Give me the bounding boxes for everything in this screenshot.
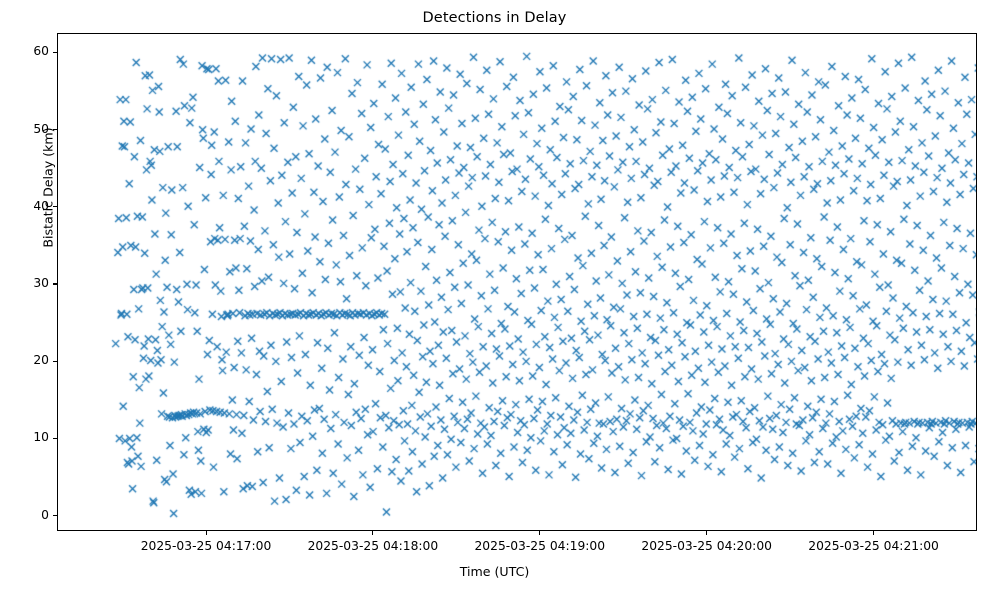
x-axis-tick-mark (706, 531, 707, 535)
y-axis-tick-label: 20 (0, 353, 49, 367)
matplotlib-figure: Detections in Delay Bistatic Delay (km) … (0, 0, 989, 590)
y-axis-tick-label: 30 (0, 276, 49, 290)
y-axis-tick-label: 60 (0, 44, 49, 58)
x-axis-tick-mark (372, 531, 373, 535)
page-title: Detections in Delay (0, 10, 989, 26)
x-axis-label: Time (UTC) (0, 564, 989, 579)
y-axis-tick-label: 0 (0, 508, 49, 522)
plot-area (57, 33, 977, 531)
x-axis-tick-mark (873, 531, 874, 535)
scatter-series (58, 34, 977, 531)
y-axis-label: Bistatic Delay (km) (41, 88, 56, 288)
x-axis-tick-label: 2025-03-25 04:21:00 (764, 539, 984, 553)
y-axis-tick-label: 50 (0, 122, 49, 136)
x-axis-tick-mark (539, 531, 540, 535)
x-axis-tick-mark (206, 531, 207, 535)
y-axis-tick-label: 10 (0, 430, 49, 444)
y-axis-tick-label: 40 (0, 199, 49, 213)
